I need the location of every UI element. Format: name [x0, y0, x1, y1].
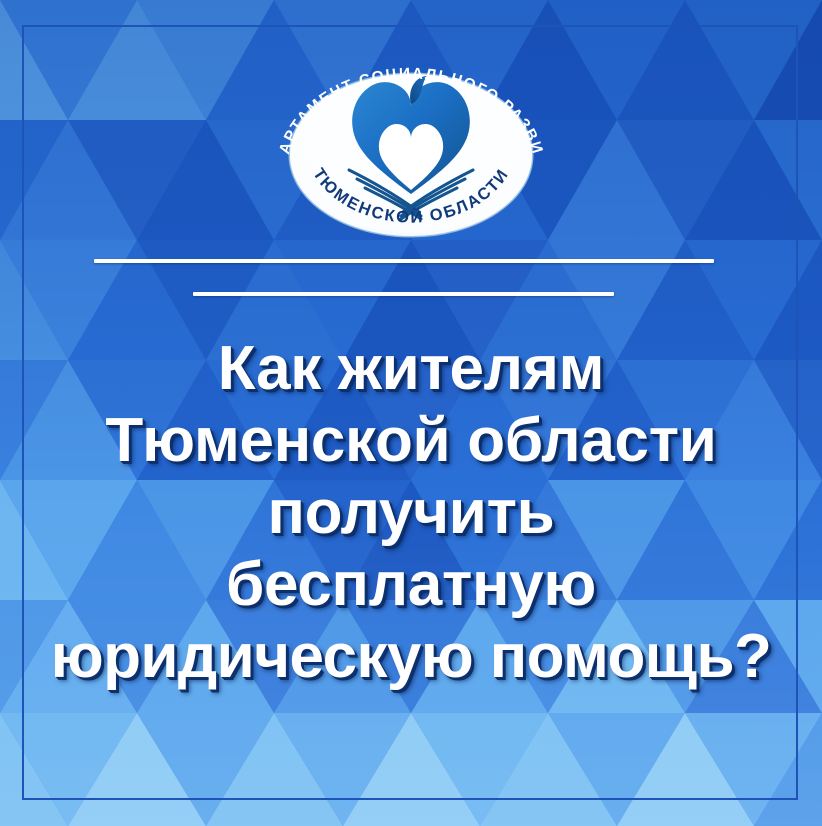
poster: ДЕПАРТАМЕНТ СОЦИАЛЬНОГО РАЗВИТИЯ ТЮМЕНСК…	[0, 0, 822, 826]
headline-line-2: Тюменской области	[0, 405, 822, 477]
headline-line-3: получить	[0, 477, 822, 549]
page-title: Как жителям Тюменской области получить б…	[0, 333, 822, 693]
divider-lower	[193, 292, 614, 296]
headline-line-4: бесплатную	[0, 549, 822, 621]
headline-line-5: юридическую помощь?	[0, 621, 822, 693]
department-logo: ДЕПАРТАМЕНТ СОЦИАЛЬНОГО РАЗВИТИЯ ТЮМЕНСК…	[261, 42, 561, 238]
divider-upper	[94, 259, 714, 263]
headline-line-1: Как жителям	[0, 333, 822, 405]
